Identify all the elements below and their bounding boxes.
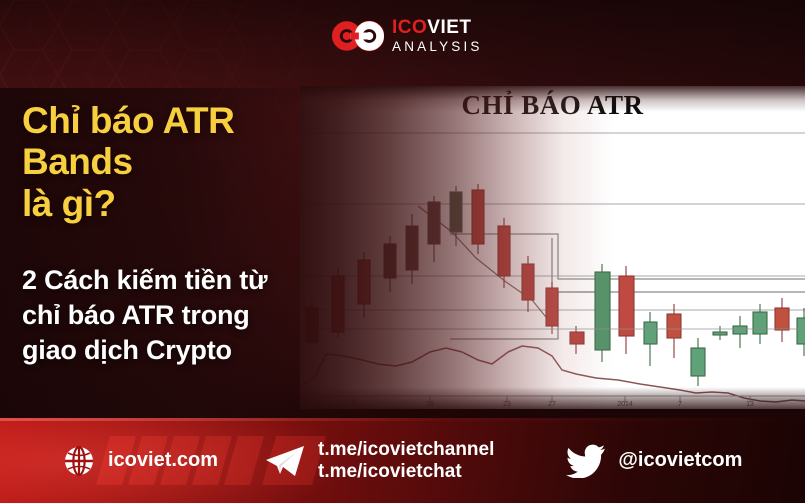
footer-website-link[interactable]: icoviet.com (62, 444, 218, 478)
x-tick-label: 13 (746, 401, 754, 408)
icoviet-logo[interactable]: ICOVIET ANALYSIS (332, 14, 483, 58)
subhead-line-1: 2 Cách kiếm tiền từ (22, 263, 352, 298)
twitter-bird-icon (566, 444, 606, 478)
subhead-line-3: giao dịch Crypto (22, 333, 352, 368)
footer-telegram-links[interactable]: t.me/icovietchannel t.me/icovietchat (264, 439, 494, 482)
headline-line-1: Chỉ báo ATR Bands (22, 100, 342, 183)
icoviet-infinity-logo-icon (332, 14, 384, 58)
subhead-line-2: chỉ báo ATR trong (22, 298, 352, 333)
x-tick-label: 9 (352, 401, 356, 408)
footer-twitter-handle: @icovietcom (618, 449, 742, 472)
logo-viet-text: VIET (427, 17, 471, 38)
footer-website-label: icoviet.com (108, 449, 218, 472)
x-tick-label: 23 (503, 401, 511, 408)
footer-telegram-chat: t.me/icovietchat (318, 461, 494, 483)
promo-banner: 9 16 23 27 2014 7 13 CHỈ BÁO ATR (0, 0, 805, 503)
candlestick-chart: 9 16 23 27 2014 7 13 (300, 86, 805, 409)
footer-bar: icoviet.com t.me/icovietchannel t.me/ico… (0, 418, 805, 503)
x-tick-label: 27 (548, 401, 556, 408)
chart-title: CHỈ BÁO ATR (300, 90, 805, 121)
footer-telegram-channel: t.me/icovietchannel (318, 439, 494, 461)
page-subtitle: 2 Cách kiếm tiền từ chỉ báo ATR trong gi… (22, 263, 352, 368)
telegram-paper-plane-icon (264, 443, 306, 479)
x-tick-label: 7 (678, 401, 682, 408)
logo-subtitle: ANALYSIS (392, 40, 483, 54)
atr-chart-panel: 9 16 23 27 2014 7 13 CHỈ BÁO ATR (300, 86, 805, 409)
headline-line-2: là gì? (22, 183, 342, 224)
footer-twitter-link[interactable]: @icovietcom (566, 444, 742, 478)
globe-icon (62, 444, 96, 478)
page-title: Chỉ báo ATR Bands là gì? (22, 100, 342, 224)
logo-ico-text: ICO (392, 17, 427, 38)
x-tick-label: 2014 (617, 401, 633, 408)
x-tick-label: 16 (426, 401, 434, 408)
